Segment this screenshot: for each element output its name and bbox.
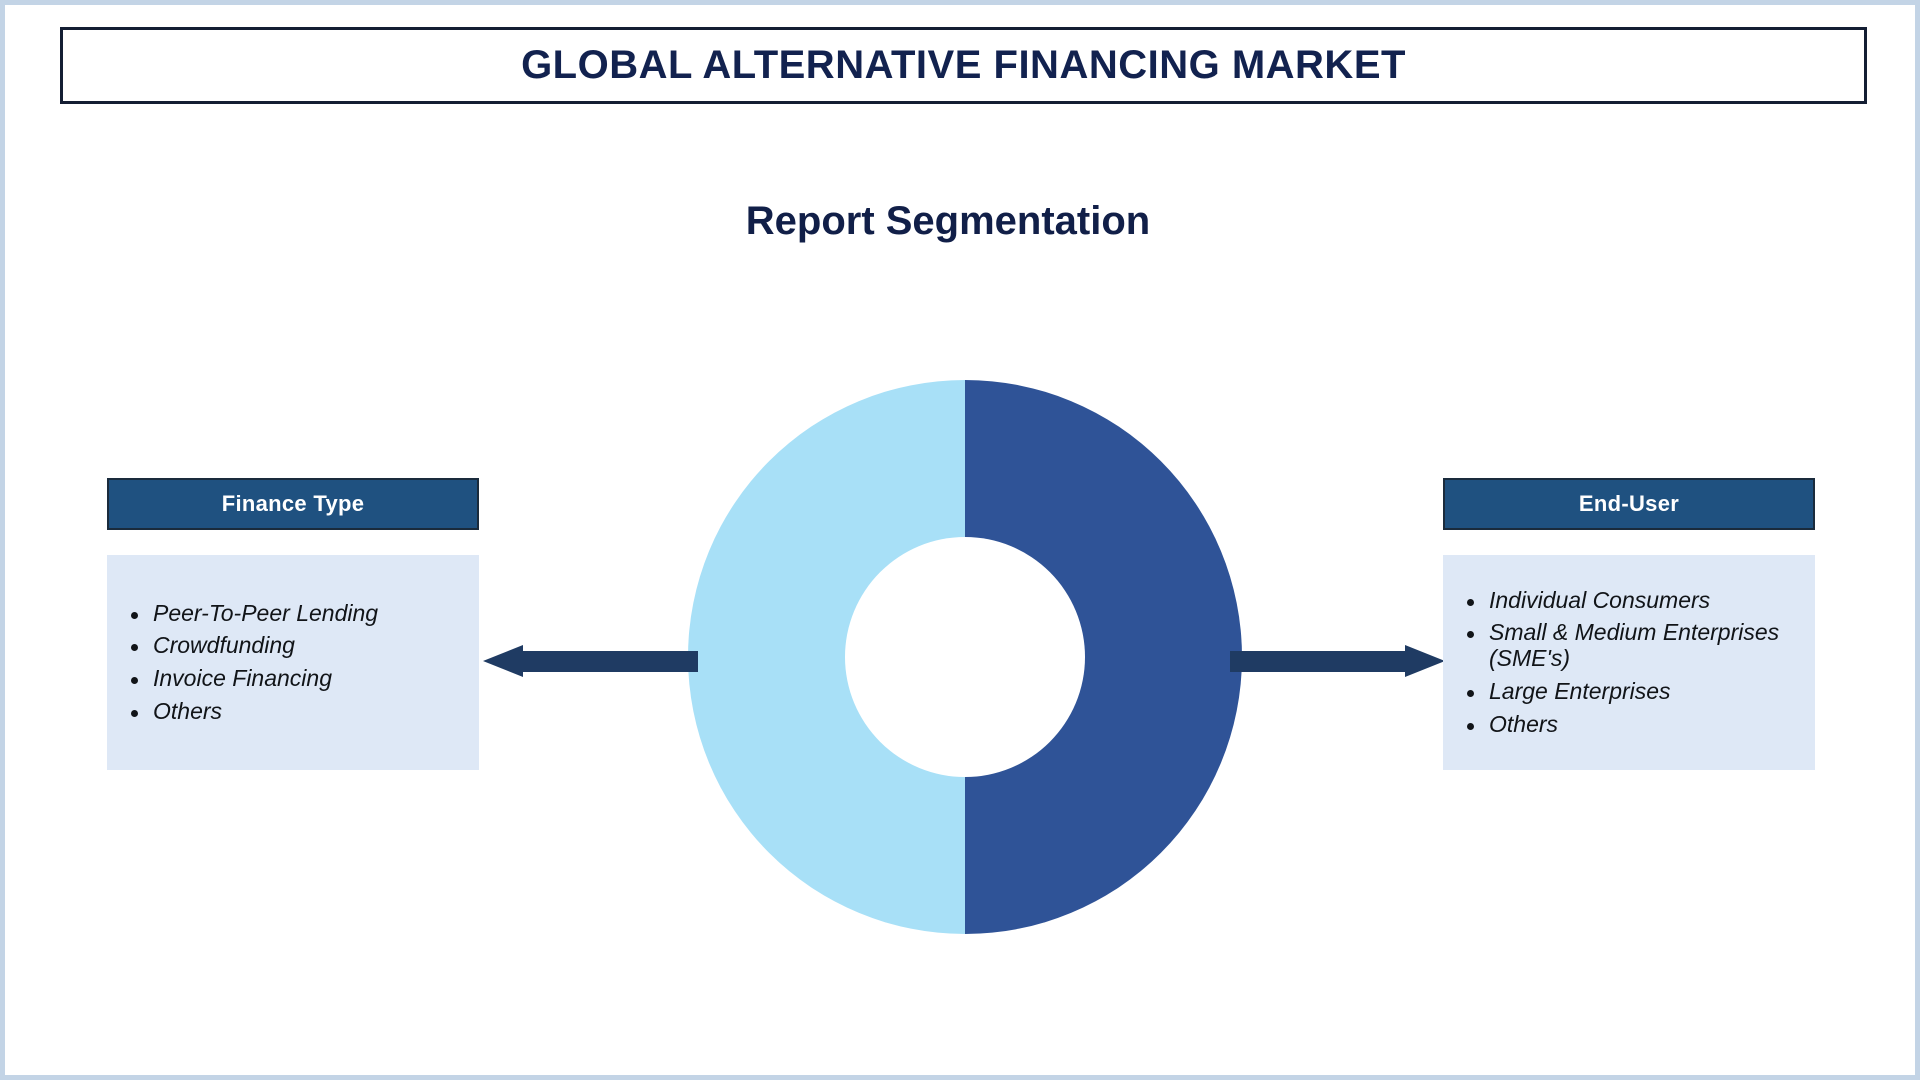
segment-panel-finance-type: Peer-To-Peer Lending Crowdfunding Invoic… xyxy=(107,555,479,770)
donut-chart xyxy=(688,380,1242,934)
section-subtitle: Report Segmentation xyxy=(746,199,1150,243)
list-item: Invoice Financing xyxy=(153,666,463,692)
list-item: Large Enterprises xyxy=(1489,679,1799,705)
section-subtitle-wrapper: Report Segmentation xyxy=(0,199,1920,244)
segment-finance-type: Finance Type Peer-To-Peer Lending Crowdf… xyxy=(107,478,479,770)
page-title-box: GLOBAL ALTERNATIVE FINANCING MARKET xyxy=(60,27,1867,104)
segment-end-user: End-User Individual Consumers Small & Me… xyxy=(1443,478,1815,770)
arrow-right-head xyxy=(1405,645,1445,677)
segment-header-label: End-User xyxy=(1579,491,1679,517)
segment-header-end-user: End-User xyxy=(1443,478,1815,530)
segment-header-finance-type: Finance Type xyxy=(107,478,479,530)
arrow-right-shaft xyxy=(1230,651,1407,672)
donut-ring xyxy=(688,380,1242,934)
list-item: Peer-To-Peer Lending xyxy=(153,601,463,627)
arrow-left-shaft xyxy=(521,651,698,672)
list-item: Crowdfunding xyxy=(153,633,463,659)
segment-panel-end-user: Individual Consumers Small & Medium Ente… xyxy=(1443,555,1815,770)
segment-list-finance-type: Peer-To-Peer Lending Crowdfunding Invoic… xyxy=(107,601,479,725)
page-title: GLOBAL ALTERNATIVE FINANCING MARKET xyxy=(521,43,1406,88)
list-item: Others xyxy=(1489,712,1799,738)
donut-hole xyxy=(845,537,1085,777)
list-item: Others xyxy=(153,699,463,725)
infographic-canvas: GLOBAL ALTERNATIVE FINANCING MARKET Repo… xyxy=(0,0,1920,1080)
list-item: Individual Consumers xyxy=(1489,588,1799,614)
segment-list-end-user: Individual Consumers Small & Medium Ente… xyxy=(1443,588,1815,738)
arrow-left-icon xyxy=(483,645,698,677)
arrow-left-head xyxy=(483,645,523,677)
segment-header-label: Finance Type xyxy=(222,491,365,517)
arrow-right-icon xyxy=(1230,645,1445,677)
list-item: Small & Medium Enterprises (SME's) xyxy=(1489,620,1799,672)
